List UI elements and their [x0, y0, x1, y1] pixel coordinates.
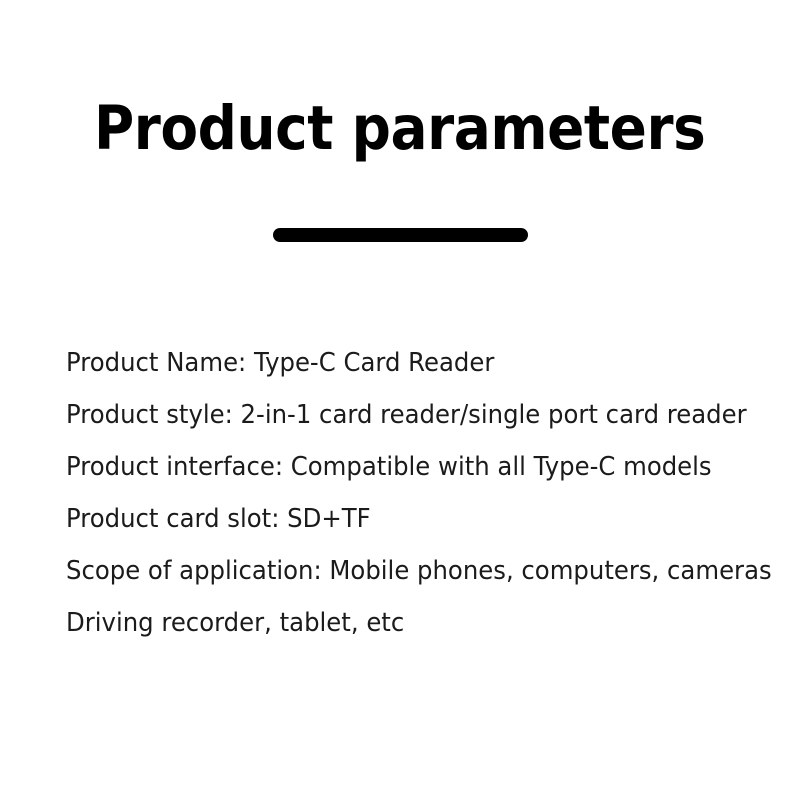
- page-title: Product parameters: [94, 98, 705, 159]
- spec-line-scope-continued: Driving recorder, tablet, etc: [66, 608, 735, 660]
- title-divider-bar: [273, 228, 528, 242]
- title-divider-container: [0, 228, 800, 246]
- page-title-block: Product parameters: [0, 98, 800, 159]
- spec-line-product-interface: Product interface: Compatible with all T…: [66, 452, 735, 504]
- spec-line-product-card-slot: Product card slot: SD+TF: [66, 504, 735, 556]
- spec-line-product-name: Product Name: Type-C Card Reader: [66, 348, 735, 400]
- product-parameters-page: Product parameters Product Name: Type-C …: [0, 0, 800, 800]
- product-spec-list: Product Name: Type-C Card Reader Product…: [66, 348, 766, 660]
- spec-line-scope-application: Scope of application: Mobile phones, com…: [66, 556, 735, 608]
- spec-line-product-style: Product style: 2-in-1 card reader/single…: [66, 400, 735, 452]
